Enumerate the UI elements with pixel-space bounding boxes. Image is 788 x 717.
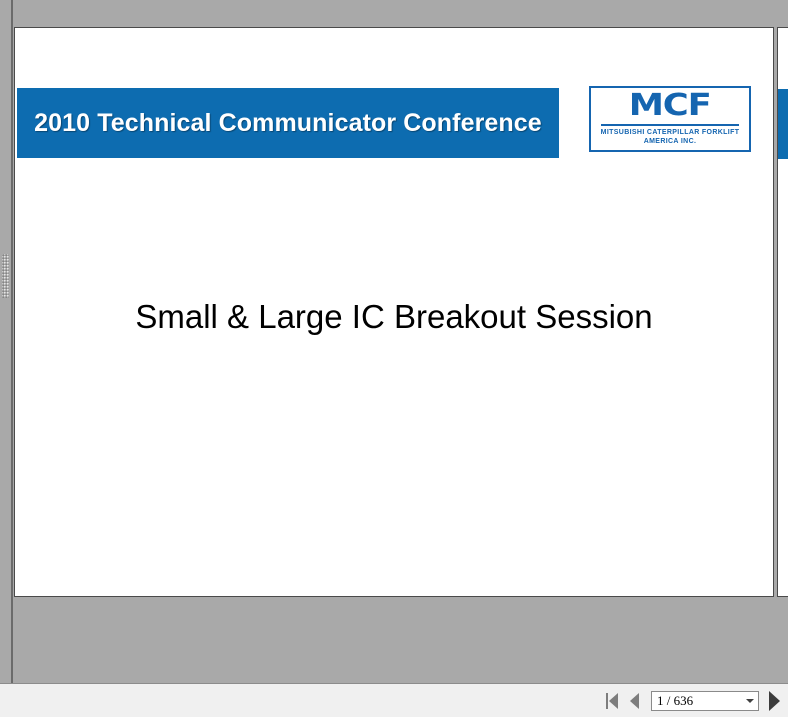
slide-page-2-peek[interactable] — [777, 27, 788, 597]
first-page-bar — [606, 693, 608, 709]
slide-page-1: 2010 Technical Communicator Conference M… — [14, 27, 774, 597]
next-page-triangle — [769, 691, 780, 711]
page-number-combo[interactable] — [651, 691, 759, 711]
chevron-down-glyph — [746, 699, 754, 703]
slide-body-title: Small & Large IC Breakout Session — [15, 298, 773, 336]
previous-page-icon[interactable] — [623, 689, 645, 713]
panel-divider — [11, 0, 13, 683]
slide-page-2-header-band — [778, 89, 788, 159]
next-page-icon[interactable] — [763, 689, 785, 713]
document-viewer-area: 2010 Technical Communicator Conference M… — [0, 0, 788, 683]
chevron-down-icon[interactable] — [742, 692, 758, 710]
previous-page-triangle — [630, 693, 639, 709]
logo-tagline-line-2: AMERICA INC. — [601, 138, 740, 147]
page-number-input[interactable] — [652, 692, 742, 710]
logo-divider-rule — [601, 124, 739, 126]
mcf-logo: MCF MITSUBISHI CATERPILLAR FORKLIFT AMER… — [589, 86, 751, 152]
slide-header-title: 2010 Technical Communicator Conference — [26, 108, 550, 138]
first-page-triangle — [609, 693, 618, 709]
mcf-logo-mark: MCF — [629, 91, 711, 121]
splitter-grip-icon[interactable] — [2, 254, 9, 298]
slide-header-bar: 2010 Technical Communicator Conference — [17, 88, 559, 158]
mcf-logo-tagline: MITSUBISHI CATERPILLAR FORKLIFT AMERICA … — [601, 129, 740, 147]
page-navigation-toolbar — [0, 683, 788, 717]
first-page-icon[interactable] — [601, 689, 623, 713]
logo-tagline-line-1: MITSUBISHI CATERPILLAR FORKLIFT — [601, 129, 740, 138]
